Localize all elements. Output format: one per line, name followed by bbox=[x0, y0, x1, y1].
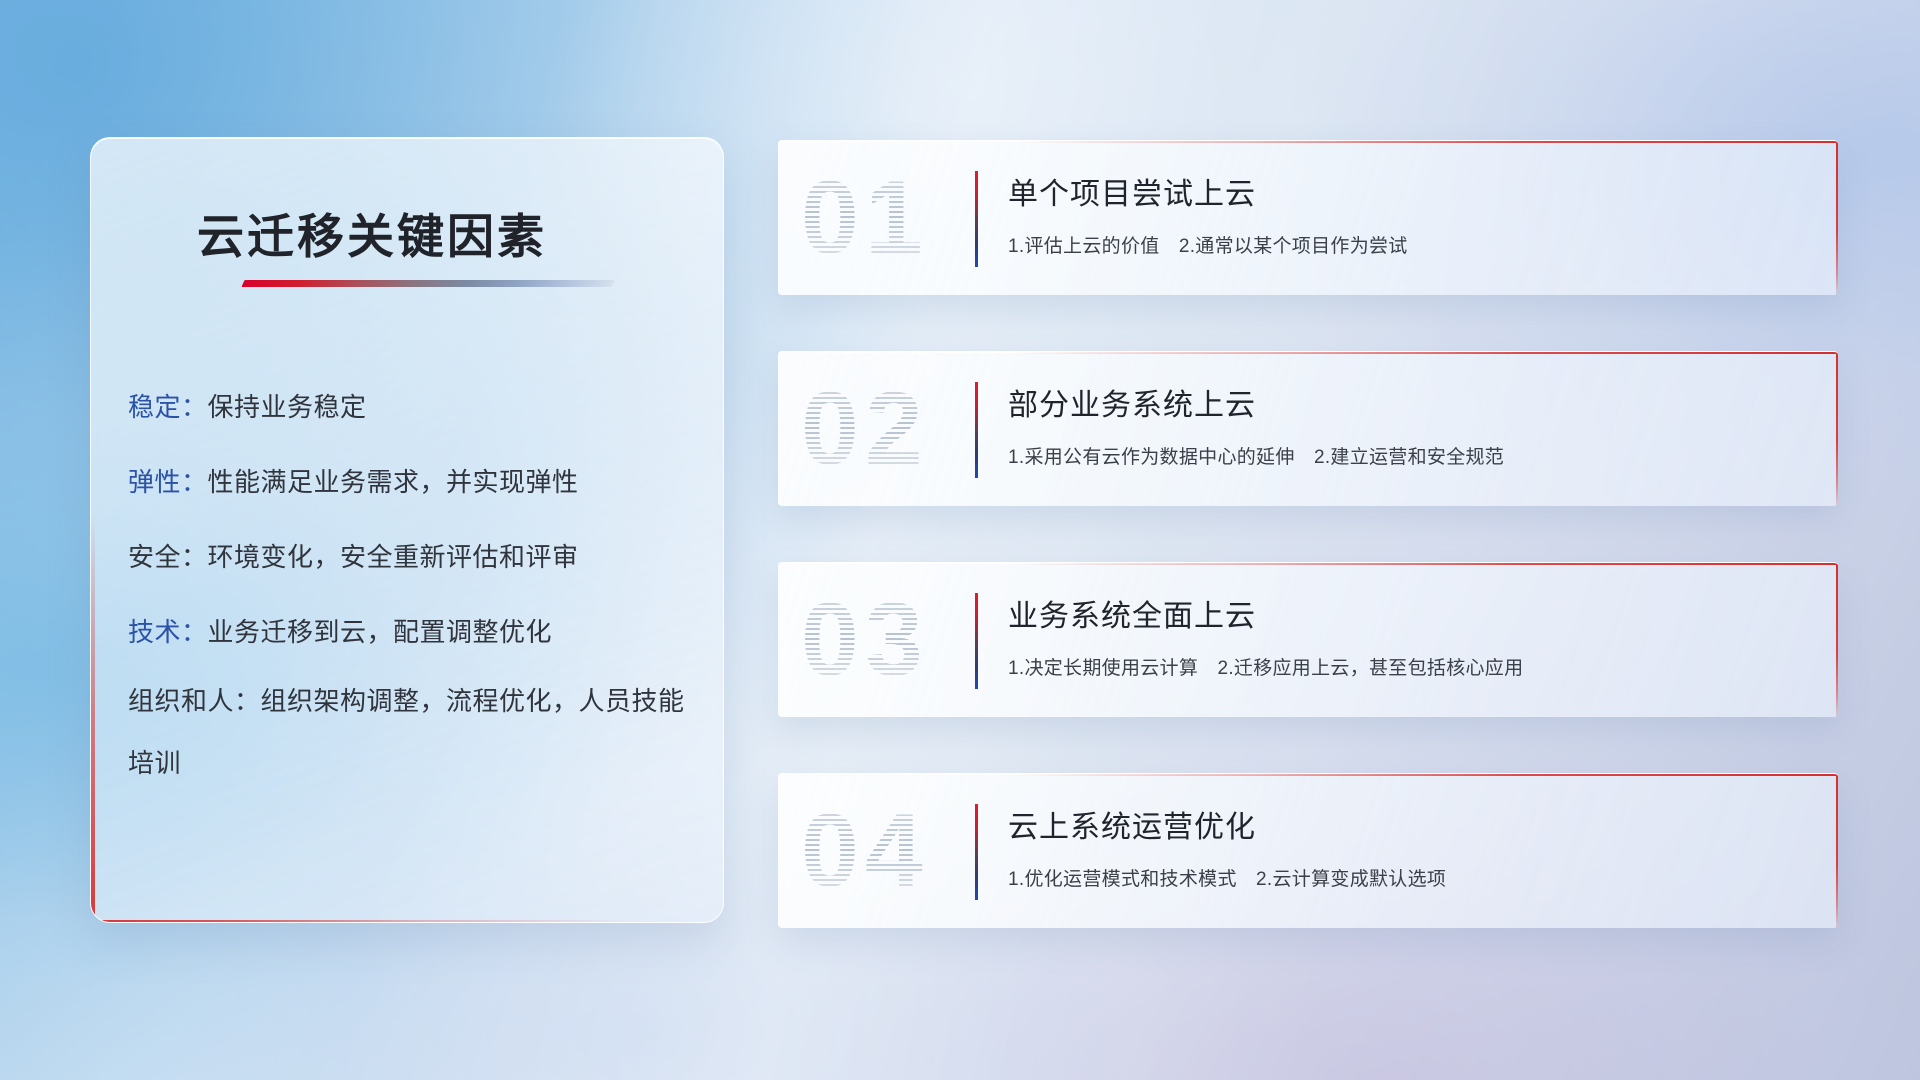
card-accent-bar bbox=[975, 593, 978, 689]
key-factors-panel: 云迁移关键因素 稳定：保持业务稳定 弹性：性能满足业务需求，并实现弹性 安全：环… bbox=[90, 137, 724, 923]
factor-item-stability: 稳定：保持业务稳定 bbox=[128, 370, 688, 445]
card-right-accent-line bbox=[1836, 774, 1838, 928]
factor-label-technology: 技术： bbox=[128, 617, 208, 647]
factor-label-security: 安全： bbox=[128, 542, 208, 572]
stage-title-04: 云上系统运营优化 bbox=[1008, 802, 1812, 846]
stage-card-body: 单个项目尝试上云 1.评估上云的价值 2.通常以某个项目作为尝试 bbox=[1008, 169, 1812, 258]
stage-card-body: 部分业务系统上云 1.采用公有云作为数据中心的延伸 2.建立运营和安全规范 bbox=[1008, 380, 1812, 469]
card-top-accent-line bbox=[1012, 352, 1838, 354]
card-right-accent-line bbox=[1836, 563, 1838, 717]
factor-value-elasticity: 性能满足业务需求，并实现弹性 bbox=[208, 467, 579, 497]
card-accent-bar bbox=[975, 804, 978, 900]
factor-value-stability: 保持业务稳定 bbox=[208, 392, 367, 422]
stage-card-body: 业务系统全面上云 1.决定长期使用云计算 2.迁移应用上云，甚至包括核心应用 bbox=[1008, 591, 1812, 680]
card-accent-bar bbox=[975, 171, 978, 267]
stage-subtitle-04: 1.优化运营模式和技术模式 2.云计算变成默认选项 bbox=[1008, 864, 1812, 891]
factor-item-organization: 组织和人：组织架构调整，流程优化，人员技能培训 bbox=[128, 670, 688, 794]
stage-title-03: 业务系统全面上云 bbox=[1008, 591, 1812, 635]
factor-item-elasticity: 弹性：性能满足业务需求，并实现弹性 bbox=[128, 445, 688, 520]
stage-card-01[interactable]: 01 单个项目尝试上云 1.评估上云的价值 2.通常以某个项目作为尝试 bbox=[778, 140, 1838, 295]
factor-label-stability: 稳定： bbox=[128, 392, 208, 422]
factor-item-technology: 技术：业务迁移到云，配置调整优化 bbox=[128, 595, 688, 670]
card-top-accent-line bbox=[1012, 563, 1838, 565]
slide-content: 云迁移关键因素 稳定：保持业务稳定 弹性：性能满足业务需求，并实现弹性 安全：环… bbox=[0, 0, 1920, 1080]
title-underline-gradient bbox=[241, 280, 614, 287]
stage-subtitle-03: 1.决定长期使用云计算 2.迁移应用上云，甚至包括核心应用 bbox=[1008, 653, 1812, 680]
stage-number-01: 01 bbox=[801, 166, 929, 270]
slide-canvas: 云迁移关键因素 稳定：保持业务稳定 弹性：性能满足业务需求，并实现弹性 安全：环… bbox=[0, 0, 1920, 1080]
stage-card-04[interactable]: 04 云上系统运营优化 1.优化运营模式和技术模式 2.云计算变成默认选项 bbox=[778, 773, 1838, 928]
card-right-accent-line bbox=[1836, 352, 1838, 506]
stage-card-02[interactable]: 02 部分业务系统上云 1.采用公有云作为数据中心的延伸 2.建立运营和安全规范 bbox=[778, 351, 1838, 506]
stage-number-02: 02 bbox=[801, 377, 929, 481]
factor-label-elasticity: 弹性： bbox=[128, 467, 208, 497]
page-title: 云迁移关键因素 bbox=[197, 198, 547, 267]
stage-card-03[interactable]: 03 业务系统全面上云 1.决定长期使用云计算 2.迁移应用上云，甚至包括核心应… bbox=[778, 562, 1838, 717]
factor-label-organization: 组织和人： bbox=[128, 686, 261, 716]
card-right-accent-line bbox=[1836, 141, 1838, 295]
stage-card-body: 云上系统运营优化 1.优化运营模式和技术模式 2.云计算变成默认选项 bbox=[1008, 802, 1812, 891]
card-top-accent-line bbox=[1012, 774, 1838, 776]
card-accent-bar bbox=[975, 382, 978, 478]
card-top-accent-line bbox=[1012, 141, 1838, 143]
factor-value-technology: 业务迁移到云，配置调整优化 bbox=[208, 617, 553, 647]
stage-subtitle-01: 1.评估上云的价值 2.通常以某个项目作为尝试 bbox=[1008, 231, 1812, 258]
factor-value-security: 环境变化，安全重新评估和评审 bbox=[208, 542, 579, 572]
key-factors-list: 稳定：保持业务稳定 弹性：性能满足业务需求，并实现弹性 安全：环境变化，安全重新… bbox=[128, 370, 688, 794]
stage-number-04: 04 bbox=[801, 799, 929, 903]
stage-title-02: 部分业务系统上云 bbox=[1008, 380, 1812, 424]
factor-item-security: 安全：环境变化，安全重新评估和评审 bbox=[128, 520, 688, 595]
stage-title-01: 单个项目尝试上云 bbox=[1008, 169, 1812, 213]
migration-stage-cards: 01 单个项目尝试上云 1.评估上云的价值 2.通常以某个项目作为尝试 02 部… bbox=[778, 140, 1838, 928]
stage-subtitle-02: 1.采用公有云作为数据中心的延伸 2.建立运营和安全规范 bbox=[1008, 442, 1812, 469]
stage-number-03: 03 bbox=[801, 588, 929, 692]
panel-bottom-accent-line bbox=[91, 920, 723, 922]
